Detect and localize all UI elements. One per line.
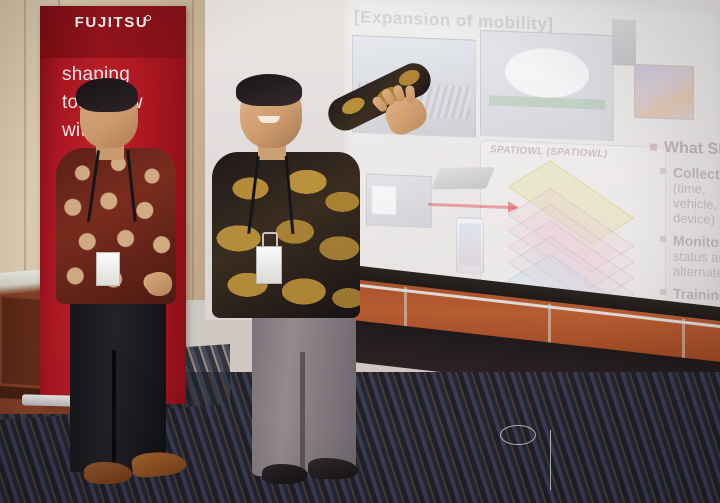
tanker-truck-photo-icon	[480, 30, 614, 141]
bullet-square-icon	[660, 236, 666, 242]
left-presenter-hair	[76, 78, 138, 112]
left-presenter-shoe-left	[84, 462, 132, 484]
bullet-group-1: Collecting data (time, vehicle, device)	[660, 164, 720, 228]
right-presenter-hair	[236, 74, 302, 106]
left-presenter-trousers	[70, 292, 166, 472]
left-presenter-name-badge	[96, 252, 120, 286]
right-presenter-shoe-left	[262, 464, 308, 484]
smartphone-icon	[456, 217, 484, 274]
floor-cable-loop-1	[500, 425, 536, 445]
bullet-square-icon	[660, 168, 666, 174]
telematics-device-icon	[431, 167, 495, 189]
night-scene-thumbnail-icon	[634, 64, 694, 120]
right-presenter-leg-seam	[300, 352, 305, 476]
floor-cable-loop-2	[550, 430, 554, 490]
right-presenter-smile	[258, 116, 280, 123]
bullet-group-2: Monitoring status and alternate routes	[660, 232, 720, 281]
bullet-square-icon	[660, 289, 666, 295]
fujitsu-logo: FUJITSU	[40, 14, 186, 31]
logo-dot-icon	[145, 15, 151, 21]
bullet-square-icon	[650, 143, 657, 150]
photo-scene: [Expansion of mobility] SPATIOWL (SPATIO…	[0, 0, 720, 503]
truck-thumbnail-icon	[366, 174, 432, 229]
grey-strip-graphic	[612, 19, 636, 66]
left-presenter-hand	[146, 272, 172, 296]
left-presenter-leg-seam	[112, 350, 116, 470]
bullet-level1: What SPATIOWL provides	[650, 138, 720, 160]
right-presenter-name-badge	[256, 246, 282, 284]
fujitsu-wordmark: FUJITSU	[75, 14, 149, 31]
